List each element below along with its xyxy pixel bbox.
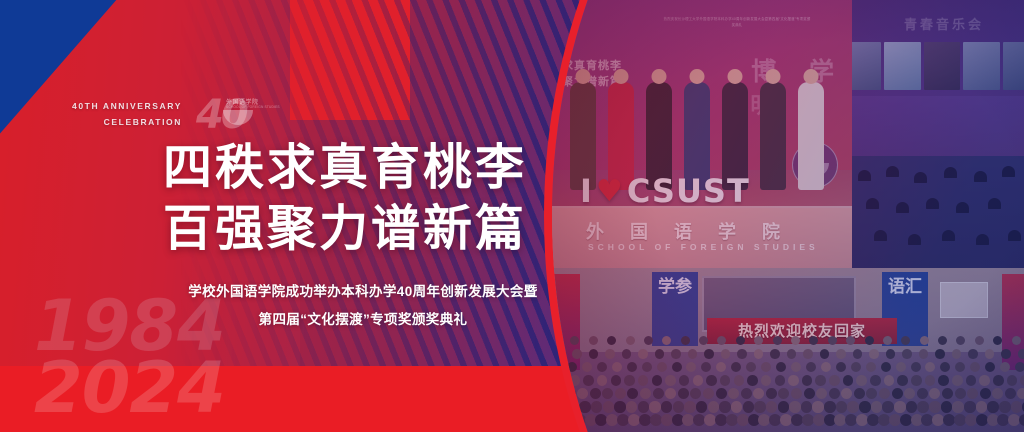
csust-wordmark: CSUST — [627, 172, 750, 210]
crowd-head — [821, 362, 831, 372]
person-head — [804, 69, 819, 84]
crowd-head — [615, 388, 626, 399]
crowd-head — [778, 388, 789, 399]
headline-line-2: 百强聚力谱新篇 — [163, 198, 527, 259]
crowd-head — [806, 362, 816, 372]
performance-stage-floor — [852, 96, 1024, 158]
crowd-head — [813, 414, 825, 426]
crowd-head — [846, 336, 855, 345]
crowd-head — [686, 362, 696, 372]
crowd-head — [987, 401, 999, 413]
crowd-head — [704, 349, 714, 359]
crowd-head — [889, 414, 901, 426]
crowd-head — [866, 362, 876, 372]
building-sign-cn: 外国语学院 — [586, 218, 806, 244]
crowd-head — [968, 349, 978, 359]
i-love-csust-letters: I ♥ CSUST — [580, 172, 750, 210]
backdrop-fine-print: 热烈庆祝长沙理工大学外国语学院本科办学40周年创新发展大会暨第四届“文化摆渡”专… — [662, 16, 812, 29]
crowd-head — [701, 362, 711, 372]
headline-line-1: 四秩求真育桃李 — [163, 137, 527, 198]
crowd-head — [847, 401, 859, 413]
crowd-head — [626, 401, 638, 413]
crowd-head — [865, 336, 874, 345]
crowd-head — [952, 349, 962, 359]
crowd-head — [967, 388, 978, 399]
crowd-head — [836, 349, 846, 359]
crowd-head — [853, 349, 863, 359]
crowd-head — [737, 414, 749, 426]
crowd-head — [979, 375, 990, 386]
crowd-head — [1007, 375, 1018, 386]
led-screen — [884, 42, 921, 90]
crowd-head — [1020, 375, 1024, 386]
crowd-head — [731, 401, 743, 413]
crowd-head — [919, 349, 929, 359]
photo-stage-group: 热烈庆祝长沙理工大学外国语学院本科办学40周年创新发展大会暨第四届“文化摆渡”专… — [552, 0, 852, 268]
crowd-head — [906, 401, 918, 413]
crowd-head — [952, 401, 964, 413]
crowd-head — [894, 401, 906, 413]
crowd-head — [999, 401, 1011, 413]
crowd-head — [952, 375, 963, 386]
crowd-head — [886, 349, 896, 359]
crowd-head — [611, 375, 622, 386]
crowd-head — [975, 336, 984, 345]
crowd-head — [719, 401, 731, 413]
crowd-head — [766, 401, 778, 413]
audience-head — [886, 166, 899, 177]
crowd-head — [859, 401, 871, 413]
wall-plaque — [940, 282, 988, 318]
crowd-head — [696, 401, 708, 413]
crowd-head — [938, 336, 947, 345]
crowd-head — [743, 401, 755, 413]
crowd-head — [917, 388, 928, 399]
crowd-head — [896, 362, 906, 372]
crowd-head — [791, 362, 801, 372]
crowd-head — [941, 401, 953, 413]
crowd-head — [589, 349, 599, 359]
crowd-head — [638, 401, 650, 413]
audience-head — [1008, 230, 1021, 241]
heart-icon: ♥ — [596, 174, 624, 209]
crowd-head — [720, 375, 731, 386]
crowd-head — [665, 375, 676, 386]
crowd-head — [693, 375, 704, 386]
crowd-head — [869, 349, 879, 359]
crowd-head — [1019, 414, 1024, 426]
crowd-head — [787, 349, 797, 359]
crowd-head — [985, 362, 995, 372]
crowd-head — [673, 401, 685, 413]
crowd-head — [708, 401, 720, 413]
crowd-head — [706, 375, 717, 386]
crowd-head — [791, 388, 802, 399]
crowd-head — [802, 375, 813, 386]
crowd-head — [717, 336, 726, 345]
audience-head — [942, 230, 955, 241]
led-screen — [1003, 42, 1024, 90]
crowd-head — [803, 349, 813, 359]
crowd-head — [993, 336, 1002, 345]
crowd-head — [955, 362, 965, 372]
audience-head — [988, 198, 1001, 209]
crowd-head — [597, 362, 607, 372]
audience-head — [908, 234, 921, 245]
crowd-head — [870, 375, 881, 386]
crowd-head — [761, 375, 772, 386]
crowd-head — [638, 375, 649, 386]
audience-head — [914, 172, 927, 183]
crowd-head — [929, 401, 941, 413]
crowd-head — [570, 336, 579, 345]
subtitle-line-1: 学校外国语学院成功举办本科办学40周年创新发展大会暨 — [163, 278, 563, 306]
crowd-head — [699, 336, 708, 345]
crowd-head — [884, 375, 895, 386]
crowd-head — [688, 349, 698, 359]
crowd-head — [661, 401, 673, 413]
crowd-head — [956, 336, 965, 345]
crowd-head — [572, 349, 582, 359]
anniversary-40-logo-icon: 40 外国语学院 SCHOOL OF FOREIGN STUDIES — [196, 88, 258, 140]
crowd-head — [741, 388, 752, 399]
stage-led-screens — [852, 42, 1024, 90]
anniversary-caption: 40TH ANNIVERSARY CELEBRATION — [72, 98, 182, 130]
crowd-head — [605, 349, 615, 359]
crowd-head — [1000, 362, 1010, 372]
crowd-head — [614, 401, 626, 413]
crowd-head — [690, 388, 701, 399]
crowd-head — [829, 388, 840, 399]
crowd-head — [992, 388, 1003, 399]
crowd-head — [942, 388, 953, 399]
building-sign: 外国语学院 SCHOOL OF FOREIGN STUDIES — [552, 206, 852, 268]
crowd-head — [602, 388, 613, 399]
crowd-head — [747, 375, 758, 386]
audience-head — [976, 234, 989, 245]
crowd-head — [1001, 349, 1011, 359]
crowd-head — [681, 336, 690, 345]
crowd-head — [955, 388, 966, 399]
led-screen — [852, 42, 881, 90]
crowd-head — [642, 362, 652, 372]
crowd-head — [882, 401, 894, 413]
crowd-head — [665, 388, 676, 399]
crowd-head — [626, 336, 635, 345]
crowd-head — [897, 375, 908, 386]
led-screen — [963, 42, 1000, 90]
crowd-head — [754, 336, 763, 345]
crowd-head — [929, 388, 940, 399]
crowd-head — [679, 375, 690, 386]
crowd-head — [841, 388, 852, 399]
crowd-head — [976, 414, 988, 426]
crowd-head — [627, 362, 637, 372]
crowd-head — [649, 401, 661, 413]
audience-head — [926, 198, 939, 209]
crowd-head — [1015, 362, 1024, 372]
crowd-head — [653, 388, 664, 399]
crowd-head — [815, 375, 826, 386]
crowd-head — [911, 362, 921, 372]
crowd-head — [854, 388, 865, 399]
crowd-head — [925, 362, 935, 372]
crowd-head — [902, 349, 912, 359]
poster-subtitle: 学校外国语学院成功举办本科办学40周年创新发展大会暨 第四届“文化摆渡”专项奖颁… — [163, 278, 563, 333]
crowd-head — [871, 401, 883, 413]
crowd-head — [911, 375, 922, 386]
crowd-head — [836, 362, 846, 372]
crowd-head — [734, 375, 745, 386]
led-screen — [924, 42, 961, 90]
photo-collage: 热烈庆祝长沙理工大学外国语学院本科办学40周年创新发展大会暨第四届“文化摆渡”专… — [552, 0, 1024, 432]
crowd-head — [662, 336, 671, 345]
crowd-head — [721, 349, 731, 359]
crowd-head — [964, 401, 976, 413]
crowd-head — [824, 401, 836, 413]
crowd-head — [776, 362, 786, 372]
crowd-head — [640, 388, 651, 399]
crowd-head — [789, 401, 801, 413]
crowd-head — [716, 362, 726, 372]
crowd-head — [703, 388, 714, 399]
crowd-head — [746, 362, 756, 372]
crowd-head — [773, 336, 782, 345]
person-head — [614, 69, 629, 84]
crowd-head — [753, 388, 764, 399]
crowd-head — [917, 401, 929, 413]
crowd-head — [820, 349, 830, 359]
crowd-head — [612, 362, 622, 372]
audience-head — [944, 167, 957, 178]
crowd-head — [731, 362, 741, 372]
crowd-head — [985, 349, 995, 359]
crowd-head — [935, 349, 945, 359]
crowd-head — [644, 336, 653, 345]
person-figure — [798, 82, 824, 190]
crowd-head — [866, 388, 877, 399]
crowd-head — [590, 388, 601, 399]
crowd-head — [638, 349, 648, 359]
crowd-head — [879, 388, 890, 399]
crowd-head — [577, 388, 588, 399]
crowd-head — [804, 388, 815, 399]
crowd-head — [661, 414, 673, 426]
audience-head — [956, 202, 969, 213]
backdrop-slogan-line-1: 求真育桃李 — [562, 58, 622, 74]
photo-stage-performance: 青春音乐会 — [852, 0, 1024, 268]
crowd-head — [770, 349, 780, 359]
person-head — [652, 69, 667, 84]
crowd-head — [671, 349, 681, 359]
crowd-head — [1005, 388, 1016, 399]
audience-head — [896, 202, 909, 213]
crowd-head — [843, 375, 854, 386]
year-to: 2024 — [34, 358, 225, 420]
crowd-head — [624, 375, 635, 386]
crowd-head — [766, 388, 777, 399]
crowd-head — [836, 401, 848, 413]
crowd-head — [597, 375, 608, 386]
csust-letter-i: I — [580, 172, 593, 210]
crowd-head — [856, 375, 867, 386]
crowd-head — [736, 336, 745, 345]
building-sign-en: SCHOOL OF FOREIGN STUDIES — [588, 242, 819, 252]
crowd-head — [582, 362, 592, 372]
crowd-head — [589, 336, 598, 345]
crowd-head — [791, 336, 800, 345]
logo-school-name-en: SCHOOL OF FOREIGN STUDIES — [226, 105, 280, 109]
crowd-head — [966, 375, 977, 386]
stage-screen-title: 青春音乐会 — [860, 14, 1024, 33]
crowd-head — [1018, 349, 1024, 359]
person-head — [766, 69, 781, 84]
audience-head — [974, 171, 987, 182]
crowd-head — [940, 362, 950, 372]
crowd-head — [883, 336, 892, 345]
crowd-head — [976, 401, 988, 413]
person-figure — [760, 82, 786, 190]
crowd-head — [980, 388, 991, 399]
person-head — [728, 69, 743, 84]
crowd-head — [655, 349, 665, 359]
anniversary-line-1: 40TH ANNIVERSARY — [72, 98, 182, 114]
crowd-head — [591, 401, 603, 413]
audience-head — [874, 230, 887, 241]
crowd-head — [829, 375, 840, 386]
crowd-head — [737, 349, 747, 359]
crowd-head — [775, 375, 786, 386]
crowd-head — [851, 362, 861, 372]
anniversary-line-2: CELEBRATION — [72, 114, 182, 130]
crowd-head — [583, 375, 594, 386]
crowd-head — [881, 362, 891, 372]
alumni-crowd — [552, 332, 1024, 432]
crowd-head — [684, 401, 696, 413]
crowd-head — [657, 362, 667, 372]
crowd-head — [993, 375, 1004, 386]
crowd-head — [579, 401, 591, 413]
crowd-head — [900, 414, 912, 426]
crowd-head — [938, 375, 949, 386]
crowd-head — [1011, 401, 1023, 413]
anniversary-lockup: 40TH ANNIVERSARY CELEBRATION 40 外国语学院 SC… — [72, 88, 258, 140]
crowd-head — [1017, 388, 1024, 399]
crowd-head — [828, 336, 837, 345]
crowd-head — [788, 375, 799, 386]
crowd-head — [603, 401, 615, 413]
crowd-head — [678, 388, 689, 399]
crowd-head — [650, 414, 662, 426]
subtitle-line-2: 第四届“文化摆渡”专项奖颁奖典礼 — [163, 306, 563, 334]
crowd-head — [904, 388, 915, 399]
crowd-head — [672, 362, 682, 372]
crowd-head — [812, 401, 824, 413]
crowd-head — [607, 336, 616, 345]
crowd-head — [716, 388, 727, 399]
crowd-head — [754, 401, 766, 413]
crowd-head — [761, 362, 771, 372]
crowd-head — [892, 388, 903, 399]
crowd-head — [622, 349, 632, 359]
photo-alumni-group: 学参 语汇 热烈欢迎校友回家 — [552, 268, 1024, 432]
crowd-head — [778, 401, 790, 413]
crowd-head — [925, 375, 936, 386]
audience-head — [858, 170, 871, 181]
poster-headline: 四秩求真育桃李 百强聚力谱新篇 — [163, 137, 527, 259]
audience-head — [866, 198, 879, 209]
person-head — [576, 69, 591, 84]
crowd-head — [652, 375, 663, 386]
crowd-head — [970, 362, 980, 372]
crowd-head — [801, 401, 813, 413]
crowd-head — [816, 388, 827, 399]
anniversary-poster-banner: 1984 2024 40TH ANNIVERSARY CELEBRATION 4… — [0, 0, 1024, 432]
audience-head — [1002, 166, 1015, 177]
crowd-head — [627, 388, 638, 399]
person-head — [690, 69, 705, 84]
crowd-head — [901, 336, 910, 345]
crowd-head — [1012, 336, 1021, 345]
crowd-head — [728, 388, 739, 399]
audience-seating — [852, 156, 1024, 268]
crowd-head — [920, 336, 929, 345]
crowd-head — [809, 336, 818, 345]
crowd-head — [754, 349, 764, 359]
